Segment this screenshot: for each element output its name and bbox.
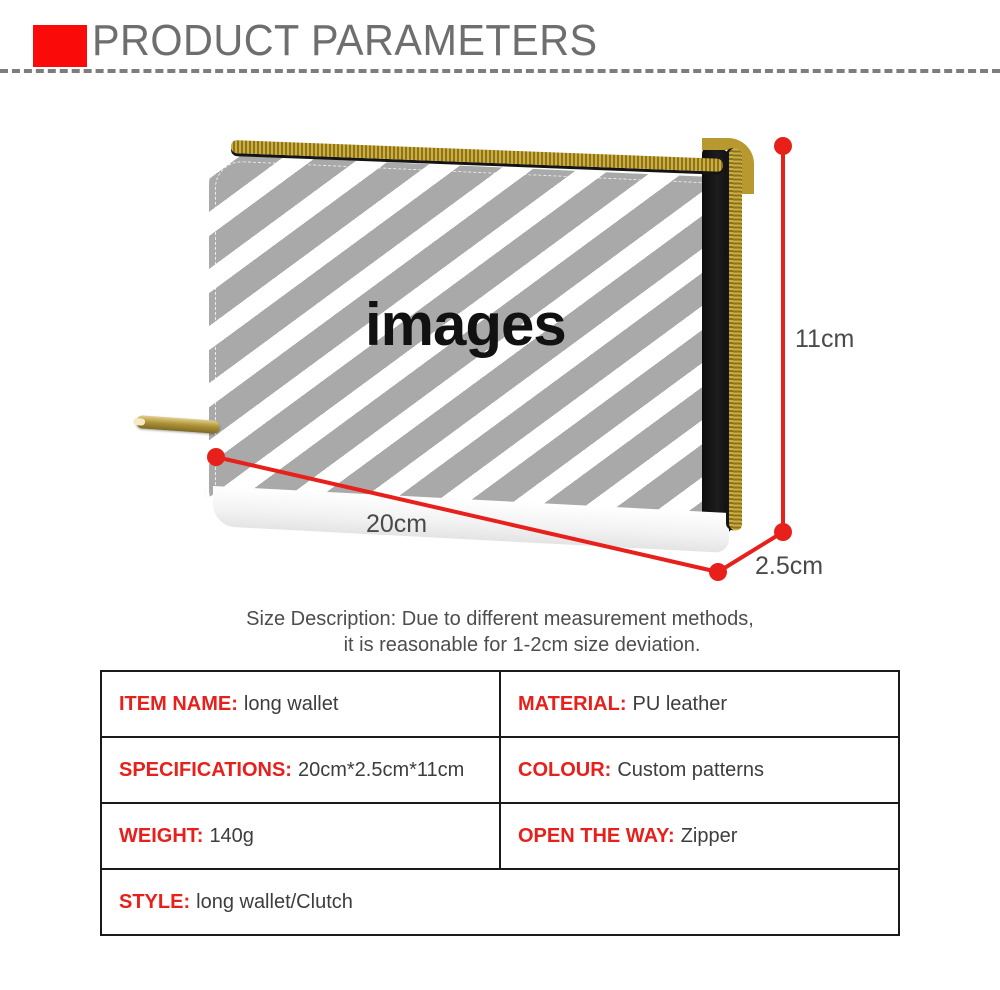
size-description: Size Description: Due to different measu… — [0, 606, 1000, 658]
spec-key: ITEM NAME: — [119, 693, 238, 715]
spec-key: WEIGHT: — [119, 825, 203, 847]
size-description-line-2: it is reasonable for 1-2cm size deviatio… — [0, 632, 1000, 658]
page-header: PRODUCT PARAMETERS — [0, 0, 1000, 78]
spec-cell-item-name: ITEM NAME:long wallet — [101, 671, 500, 737]
image-watermark: images — [365, 290, 566, 359]
spec-cell-open-the-way: OPEN THE WAY:Zipper — [500, 803, 899, 869]
spec-key: OPEN THE WAY: — [518, 825, 675, 847]
product-figure: images — [0, 80, 1000, 600]
spec-cell-material: MATERIAL:PU leather — [500, 671, 899, 737]
spec-value: Custom patterns — [617, 759, 764, 781]
spec-key: COLOUR: — [518, 759, 611, 781]
product-spec-table: ITEM NAME:long wallet MATERIAL:PU leathe… — [100, 670, 900, 936]
spec-value: PU leather — [633, 693, 728, 715]
spec-value: 140g — [209, 825, 254, 847]
header-accent-square — [33, 25, 87, 67]
zipper-corner-icon — [702, 138, 754, 194]
header-divider — [0, 69, 1000, 73]
spec-key: STYLE: — [119, 891, 190, 913]
page-title: PRODUCT PARAMETERS — [92, 16, 598, 66]
spec-value: Zipper — [681, 825, 738, 847]
zipper-pull-eye — [133, 418, 145, 426]
spec-cell-colour: COLOUR:Custom patterns — [500, 737, 899, 803]
table-row: SPECIFICATIONS:20cm*2.5cm*11cm COLOUR:Cu… — [101, 737, 899, 803]
spec-value: long wallet/Clutch — [196, 891, 353, 913]
wallet-product-photo: images — [205, 150, 750, 540]
spec-key: SPECIFICATIONS: — [119, 759, 292, 781]
spec-key: MATERIAL: — [518, 693, 627, 715]
spec-cell-specifications: SPECIFICATIONS:20cm*2.5cm*11cm — [101, 737, 500, 803]
table-row: STYLE:long wallet/Clutch — [101, 869, 899, 935]
spec-value: long wallet — [244, 693, 339, 715]
size-description-line-1: Size Description: Due to different measu… — [246, 608, 754, 630]
spec-cell-style: STYLE:long wallet/Clutch — [101, 869, 899, 935]
spec-value: 20cm*2.5cm*11cm — [298, 759, 464, 781]
spec-cell-weight: WEIGHT:140g — [101, 803, 500, 869]
table-row: WEIGHT:140g OPEN THE WAY:Zipper — [101, 803, 899, 869]
zipper-side-icon — [729, 148, 742, 531]
table-row: ITEM NAME:long wallet MATERIAL:PU leathe… — [101, 671, 899, 737]
